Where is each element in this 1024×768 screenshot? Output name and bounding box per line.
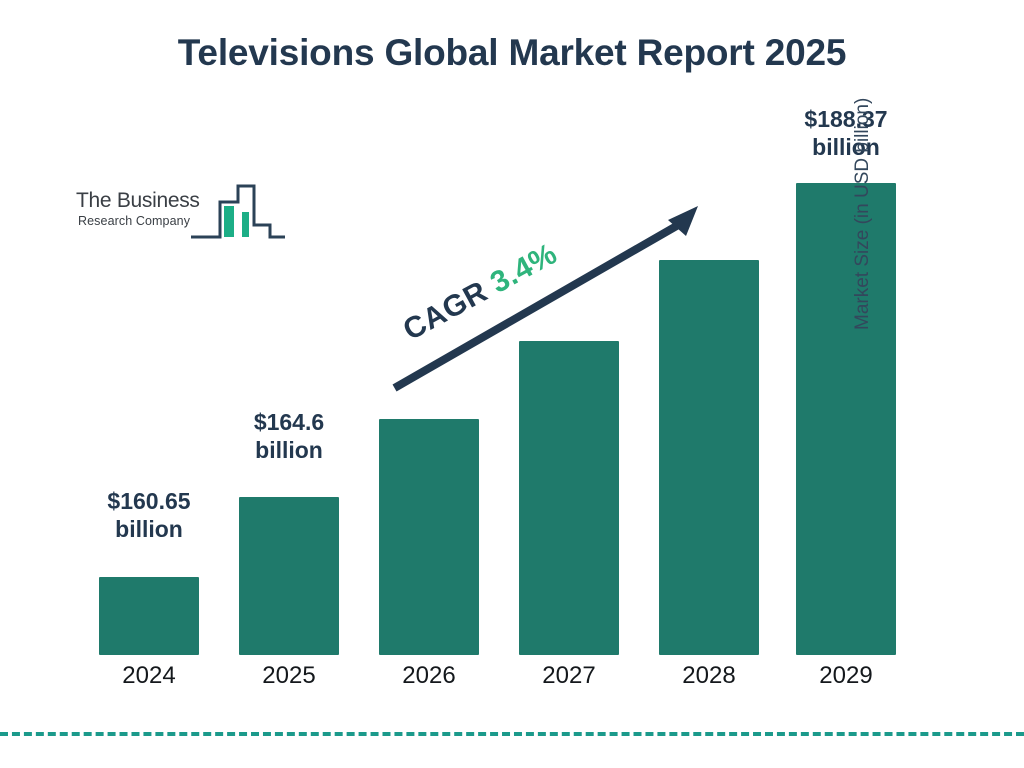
chart-container: Televisions Global Market Report 2025 Th… xyxy=(0,0,1024,768)
footer-divider xyxy=(0,732,1024,736)
bar-2024[interactable] xyxy=(99,577,199,655)
x-tick-label-2028: 2028 xyxy=(649,662,769,690)
x-tick-label-2025: 2025 xyxy=(229,662,349,690)
bar-2029[interactable] xyxy=(796,183,896,655)
bar-value-label-2029: $188.37 billion xyxy=(766,105,926,161)
x-tick-label-2024: 2024 xyxy=(89,662,209,690)
bar-value-unit-2025: billion xyxy=(209,436,369,464)
y-axis-title: Market Size (in USD billion) xyxy=(852,10,874,330)
bar-value-amount-2025: $164.6 xyxy=(209,408,369,436)
bar-value-unit-2029: billion xyxy=(766,133,926,161)
bar-value-amount-2029: $188.37 xyxy=(766,105,926,133)
cagr-trend-arrow-icon xyxy=(380,190,720,400)
bar-value-amount-2024: $160.65 xyxy=(69,487,229,515)
bar-value-unit-2024: billion xyxy=(69,515,229,543)
x-tick-label-2029: 2029 xyxy=(786,662,906,690)
x-tick-label-2027: 2027 xyxy=(509,662,629,690)
bar-2025[interactable] xyxy=(239,497,339,655)
bar-2026[interactable] xyxy=(379,419,479,655)
bar-value-label-2025: $164.6 billion xyxy=(209,408,369,464)
x-tick-label-2026: 2026 xyxy=(369,662,489,690)
bar-value-label-2024: $160.65 billion xyxy=(69,487,229,543)
plot-area: $160.65 billion $164.6 billion $188.37 b… xyxy=(0,0,1024,768)
